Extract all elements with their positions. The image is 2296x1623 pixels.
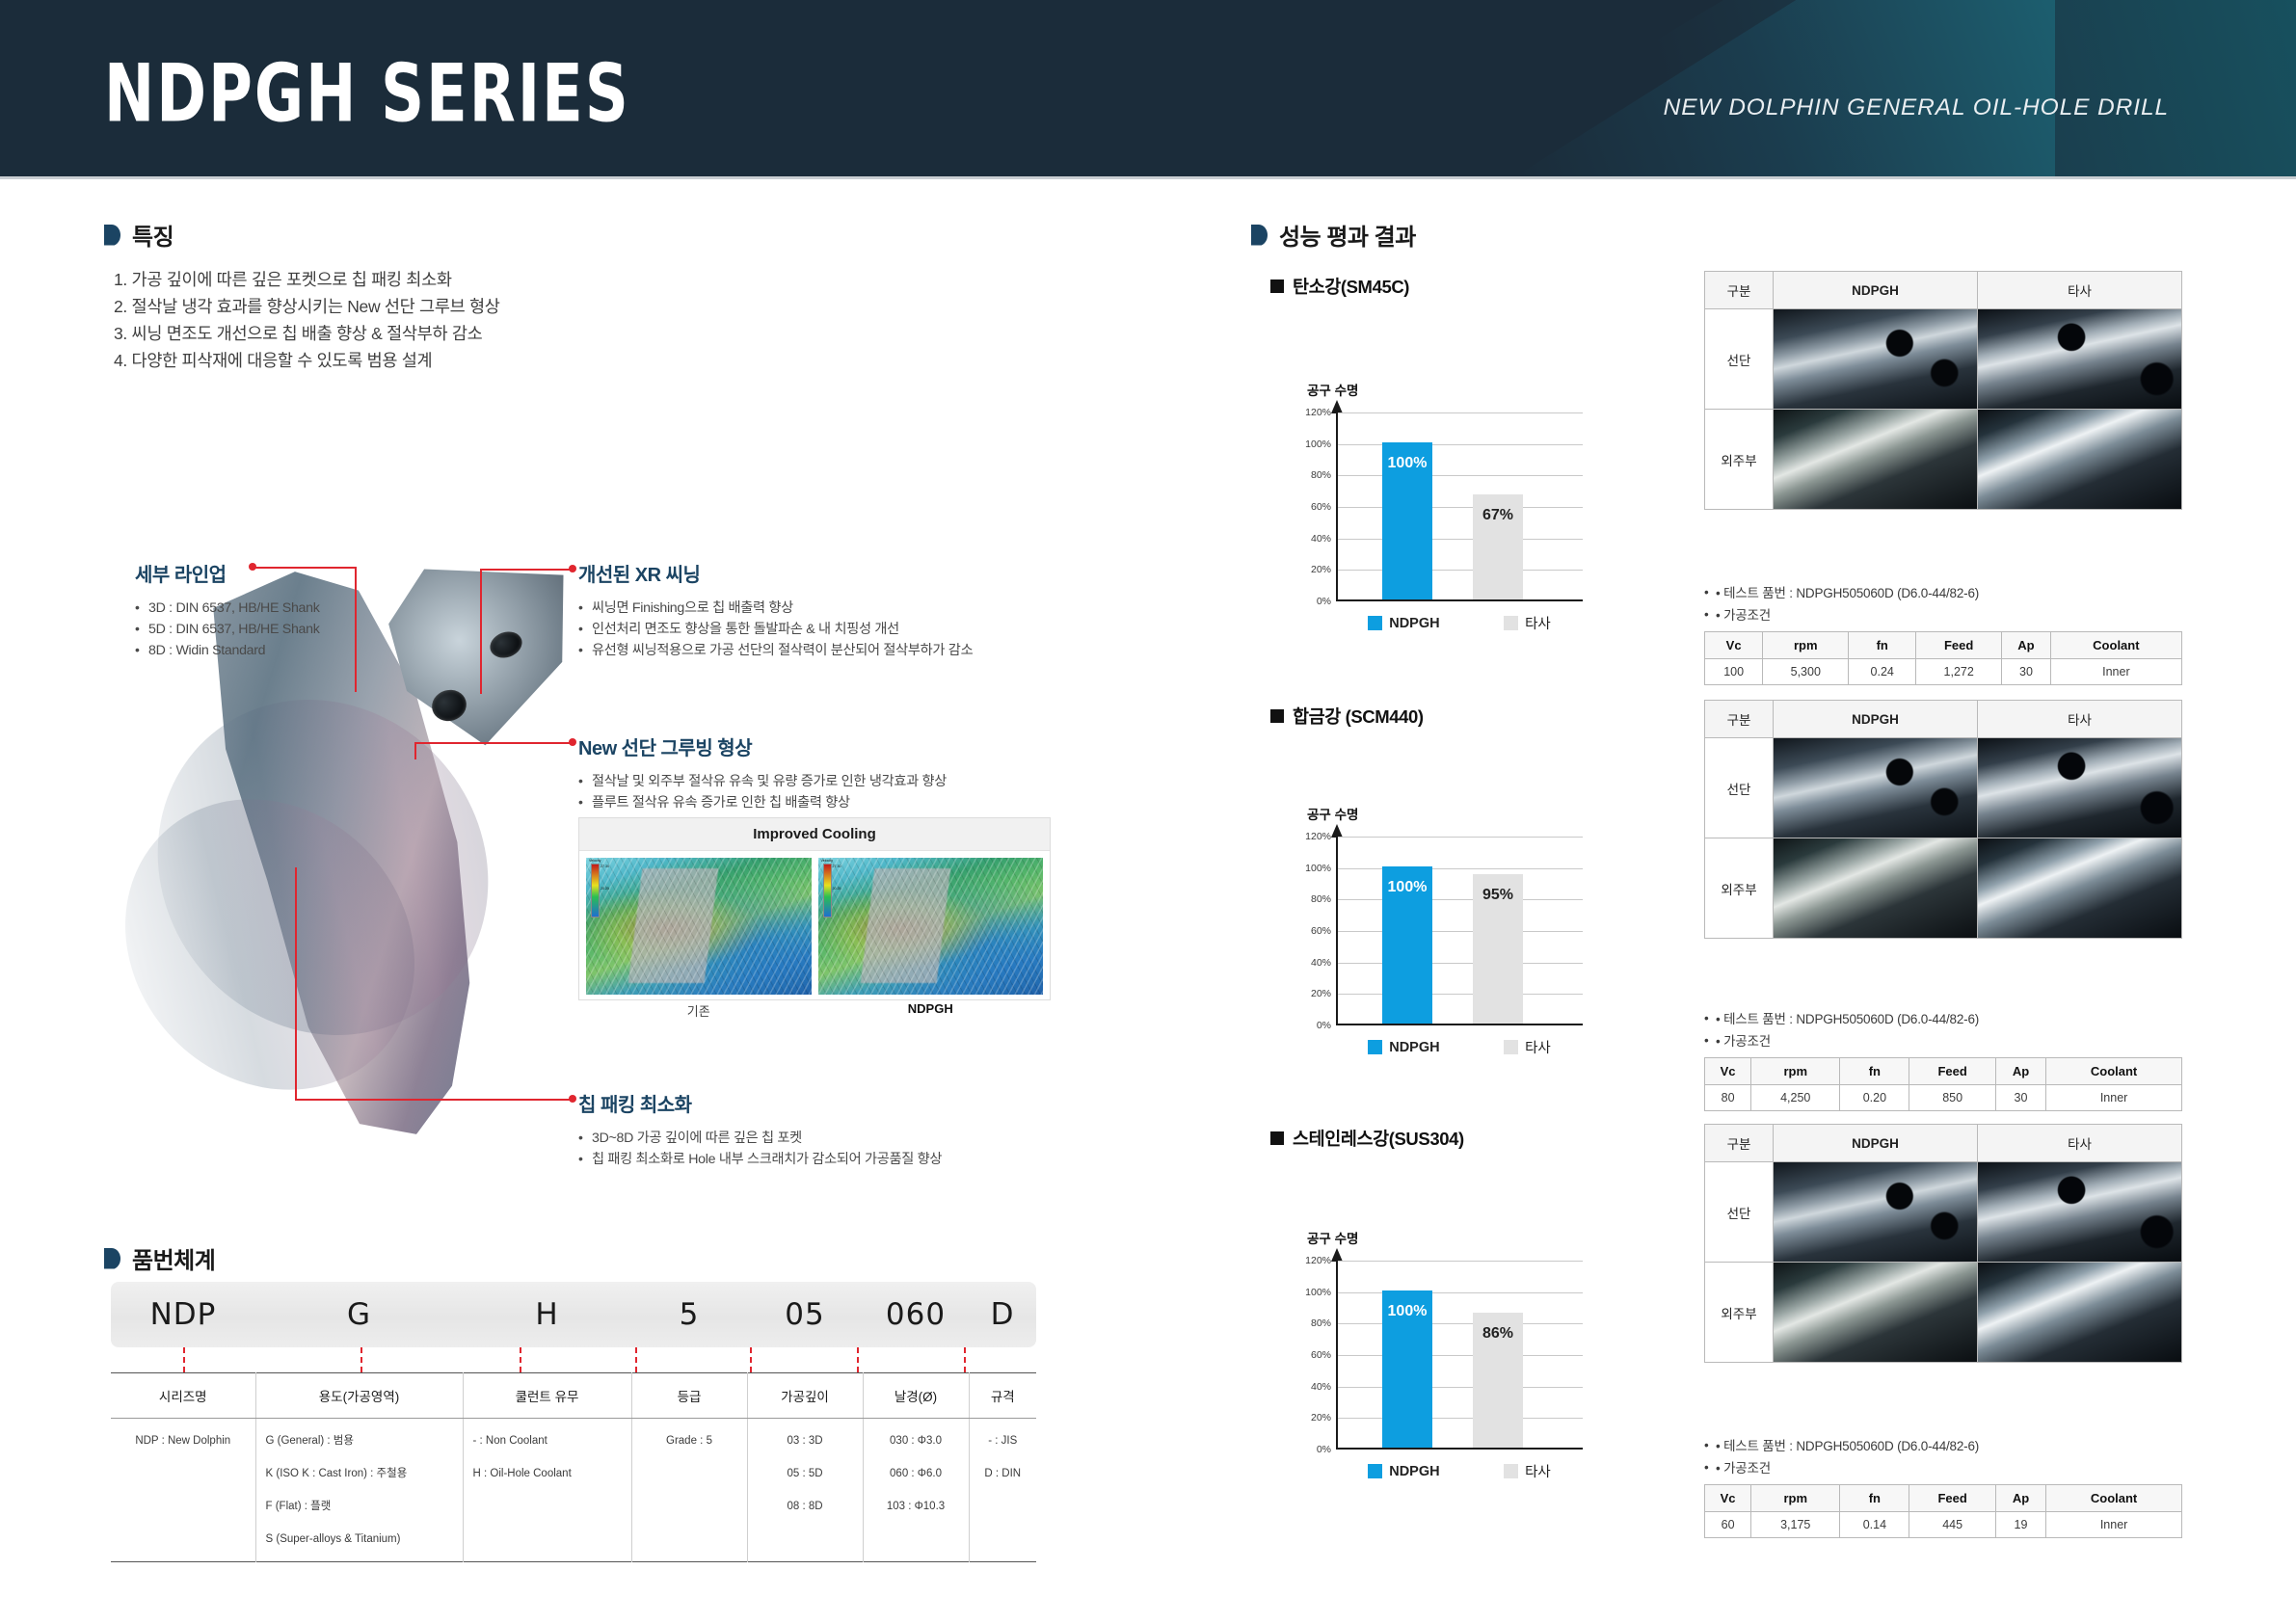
cell-text: 103 : Φ10.3: [864, 1490, 969, 1523]
cell-text: K (ISO K : Cast Iron) : 주철용: [266, 1457, 453, 1490]
cooling-captions: 기존 NDPGH: [579, 1001, 1050, 1024]
cell-value: 5,300: [1763, 659, 1849, 685]
y-tick-label: 100%: [1305, 439, 1331, 450]
cell-text: H : Oil-Hole Coolant: [473, 1457, 622, 1490]
leader-line: [253, 567, 357, 569]
chart-legend: NDPGH 타사: [1336, 1037, 1583, 1057]
photo-cell: [1774, 838, 1978, 939]
cooling-panel-title: Improved Cooling: [579, 818, 1050, 851]
leader-dot: [569, 738, 576, 746]
cell-usage: G (General) : 범용 K (ISO K : Cast Iron) :…: [255, 1419, 463, 1562]
pn-connector: [750, 1347, 752, 1372]
table-row: 선단: [1705, 1162, 2182, 1263]
callout-title: New 선단 그루빙 형상: [578, 732, 947, 760]
bar-value-label: 100%: [1382, 1303, 1432, 1320]
column-header: Ap: [1995, 1058, 2045, 1085]
bar-other: 86%: [1473, 1313, 1523, 1449]
table-row: 선단: [1705, 309, 2182, 410]
cell-text: NDP : New Dolphin: [111, 1424, 255, 1457]
cell-value: 0.20: [1840, 1085, 1909, 1111]
condition-label: • 가공조건: [1704, 1030, 2182, 1052]
performance-heading: 성능 평과 결과: [1251, 218, 1416, 252]
list-item: 씨닝면 Finishing으로 칩 배출력 향상: [578, 598, 973, 619]
drill-periphery-photo-ndpgh: [1774, 838, 1977, 938]
velocity-scale-bar: [823, 864, 832, 918]
condition-table: Vc rpm fn Feed Ap Coolant 60 3,175 0.14 …: [1704, 1484, 2182, 1538]
cell-value: 30: [1995, 1085, 2045, 1111]
column-header: Vc: [1705, 1485, 1751, 1512]
cell-diameter: 030 : Φ3.0 060 : Φ6.0 103 : Φ10.3: [863, 1419, 969, 1562]
compare-table-scm440: 구분 NDPGH 타사 선단 외주부: [1704, 700, 2182, 939]
table-header-row: 구분 NDPGH 타사: [1705, 272, 2182, 309]
column-header: Ap: [2002, 632, 2051, 659]
list-item: 유선형 씨닝적용으로 가공 선단의 절삭력이 분산되어 절삭부하가 감소: [578, 640, 973, 661]
row-label: 선단: [1705, 738, 1774, 838]
velocity-scale-bar: [591, 864, 600, 918]
legend-item-other: 타사: [1504, 613, 1551, 633]
column-header: Vc: [1705, 632, 1763, 659]
legend-label: 타사: [1525, 613, 1551, 633]
subtitle-label: 합금강 (SCM440): [1293, 704, 1424, 729]
y-tick-label: 20%: [1311, 1412, 1331, 1423]
performance-heading-label: 성능 평과 결과: [1279, 218, 1416, 252]
callout-lineup: 세부 라인업 3D : DIN 6537, HB/HE Shank 5D : D…: [135, 559, 320, 661]
pn-connector: [360, 1347, 362, 1372]
table-header-row: Vc rpm fn Feed Ap Coolant: [1705, 632, 2182, 659]
cell-value: 80: [1705, 1085, 1751, 1111]
chart-sus304: 공구 수명 120% 100% 80% 60% 40% 20% 0% 100% …: [1282, 1253, 1600, 1484]
column-header: 등급: [631, 1373, 747, 1419]
cell-value: 3,175: [1751, 1512, 1840, 1538]
list-item: 4. 다양한 피삭재에 대응할 수 있도록 범용 설계: [114, 347, 500, 374]
y-tick-label: 60%: [1311, 925, 1331, 937]
list-item: 5D : DIN 6537, HB/HE Shank: [135, 619, 320, 640]
legend-swatch-icon: [1504, 1464, 1518, 1478]
callout-title: 칩 패킹 최소화: [578, 1089, 942, 1117]
drill-tip-photo-ndpgh: [1774, 309, 1977, 409]
bar-value-label: 100%: [1382, 879, 1432, 896]
column-header: 쿨런트 유무: [463, 1373, 631, 1419]
pn-code-cell: D: [969, 1297, 1036, 1332]
drill-periphery-photo-other: [1978, 1263, 2181, 1362]
square-bullet-icon: [1270, 279, 1284, 293]
drill-periphery-photo-ndpgh: [1774, 410, 1977, 509]
square-bullet-icon: [1270, 709, 1284, 723]
bar-other: 95%: [1473, 874, 1523, 1024]
column-header: 구분: [1705, 701, 1774, 738]
table-row: NDP : New Dolphin G (General) : 범용 K (IS…: [111, 1419, 1036, 1562]
table-row: 100 5,300 0.24 1,272 30 Inner: [1705, 659, 2182, 685]
page-header: NDPGH SERIES NEW DOLPHIN GENERAL OIL-HOL…: [0, 0, 2296, 176]
y-tick-label: 80%: [1311, 1317, 1331, 1329]
legend-label: NDPGH: [1389, 616, 1439, 631]
callout-title: 세부 라인업: [135, 559, 320, 587]
y-tick-label: 40%: [1311, 1381, 1331, 1393]
leader-line: [355, 567, 357, 692]
cell-value: 0.14: [1840, 1512, 1909, 1538]
y-tick-label: 120%: [1305, 1255, 1331, 1266]
drill-tip-photo-ndpgh: [1774, 738, 1977, 838]
column-header: 시리즈명: [111, 1373, 255, 1419]
column-header: 구분: [1705, 1125, 1774, 1162]
partnumber-code-bar: NDP G H 5 05 060 D: [111, 1282, 1036, 1347]
bar-value-label: 100%: [1382, 455, 1432, 472]
pn-connector: [635, 1347, 637, 1372]
catalog-page: NDPGH SERIES NEW DOLPHIN GENERAL OIL-HOL…: [0, 0, 2296, 1623]
column-header: 용도(가공영역): [255, 1373, 463, 1419]
bar-value-label: 86%: [1473, 1325, 1523, 1343]
table-row: 선단: [1705, 738, 2182, 838]
drill-tip-photo-other: [1978, 1162, 2181, 1262]
column-header: Feed: [1916, 632, 2002, 659]
y-tick-label: 40%: [1311, 533, 1331, 545]
list-item: 플루트 절삭유 유속 증가로 인한 칩 배출력 향상: [578, 792, 947, 813]
pn-code-cell: G: [255, 1297, 463, 1332]
photo-cell: [1978, 410, 2182, 510]
leader-line: [414, 742, 416, 759]
column-header: NDPGH: [1774, 272, 1978, 309]
cell-text: S (Super-alloys & Titanium): [266, 1523, 453, 1556]
legend-label: NDPGH: [1389, 1040, 1439, 1055]
condition-table: Vc rpm fn Feed Ap Coolant 100 5,300 0.24…: [1704, 631, 2182, 685]
chart-plot-area: 120% 100% 80% 60% 40% 20% 0% 100% 95%: [1336, 837, 1583, 1025]
drill-tip-photo-other: [1978, 309, 2181, 409]
features-list: 1. 가공 깊이에 따른 깊은 포켓으로 칩 패킹 최소화 2. 절삭날 냉각 …: [114, 266, 500, 374]
pn-code-cell: 05: [747, 1297, 863, 1332]
column-header: Vc: [1705, 1058, 1751, 1085]
column-header: 가공깊이: [747, 1373, 863, 1419]
drill-tip-photo-ndpgh: [1774, 1162, 1977, 1262]
bar-ndpgh: 100%: [1382, 1290, 1432, 1448]
column-header: fn: [1840, 1485, 1909, 1512]
list-item: 인선처리 면조도 향상을 통한 돌발파손 & 내 치핑성 개선: [578, 619, 973, 640]
cell-value: 4,250: [1751, 1085, 1840, 1111]
legend-swatch-icon: [1368, 616, 1382, 630]
cell-value: 30: [2002, 659, 2051, 685]
page-title: NDPGH SERIES: [104, 48, 630, 141]
block-subtitle-sus304: 스테인레스강(SUS304): [1270, 1126, 1464, 1151]
photo-cell: [1978, 838, 2182, 939]
cell-value: 60: [1705, 1512, 1751, 1538]
column-header: rpm: [1763, 632, 1849, 659]
bar-value-label: 67%: [1473, 507, 1523, 524]
axis-arrow-icon: [1331, 1248, 1343, 1262]
column-header: Coolant: [2046, 1058, 2182, 1085]
test-part-number: • 테스트 품번 : NDPGH505060D (D6.0-44/82-6): [1704, 582, 2182, 604]
chart-y-axis-label: 공구 수명: [1307, 804, 1358, 823]
column-header: Feed: [1909, 1058, 1995, 1085]
chart-plot-area: 120% 100% 80% 60% 40% 20% 0% 100% 86%: [1336, 1261, 1583, 1450]
column-header: fn: [1840, 1058, 1909, 1085]
table-row: 60 3,175 0.14 445 19 Inner: [1705, 1512, 2182, 1538]
cell-value: Inner: [2046, 1512, 2182, 1538]
chart-scm440: 공구 수명 120% 100% 80% 60% 40% 20% 0% 100% …: [1282, 829, 1600, 1060]
condition-block-scm440: • 테스트 품번 : NDPGH505060D (D6.0-44/82-6) •…: [1704, 1008, 2182, 1111]
list-item: 3D : DIN 6537, HB/HE Shank: [135, 598, 320, 619]
legend-swatch-icon: [1504, 1040, 1518, 1054]
chart-plot-area: 120% 100% 80% 60% 40% 20% 0% 100% 67%: [1336, 412, 1583, 601]
column-header: 규격: [969, 1373, 1036, 1419]
subtitle-label: 스테인레스강(SUS304): [1293, 1126, 1464, 1151]
velocity-scale-label: Velocity: [821, 859, 833, 863]
condition-block-sus304: • 테스트 품번 : NDPGH505060D (D6.0-44/82-6) •…: [1704, 1435, 2182, 1538]
list-item: 칩 패킹 최소화로 Hole 내부 스크래치가 감소되어 가공품질 향상: [578, 1149, 942, 1170]
header-divider: [0, 176, 2296, 179]
leader-line: [482, 569, 574, 571]
y-tick-label: 20%: [1311, 988, 1331, 999]
cfd-surface-mask: [861, 868, 951, 983]
cell-value: Inner: [2050, 659, 2181, 685]
callout-list: 절삭날 및 외주부 절삭유 유속 및 유량 증가로 인한 냉각효과 향상 플루트…: [578, 771, 947, 813]
cell-text: 030 : Φ3.0: [864, 1424, 969, 1457]
flag-icon: [1251, 225, 1268, 246]
y-tick-label: 20%: [1311, 564, 1331, 575]
cfd-image-ndpgh: Velocity 27.30 20.25: [818, 858, 1044, 995]
photo-cell: [1774, 1162, 1978, 1263]
y-tick-label: 40%: [1311, 957, 1331, 969]
velocity-scale-label: Velocity: [589, 859, 601, 863]
test-part-number: • 테스트 품번 : NDPGH505060D (D6.0-44/82-6): [1704, 1008, 2182, 1030]
column-header: NDPGH: [1774, 701, 1978, 738]
cooling-images: Velocity 27.30 20.25 Velocity 27.30 20.2…: [579, 851, 1050, 1001]
pn-code-cell: H: [463, 1297, 631, 1332]
row-label: 외주부: [1705, 1263, 1774, 1363]
table-row: 외주부: [1705, 1263, 2182, 1363]
velocity-scale-max: 27.30: [833, 865, 841, 868]
cell-value: 19: [1995, 1512, 2045, 1538]
subtitle-label: 탄소강(SM45C): [1293, 274, 1409, 299]
table-header-row: Vc rpm fn Feed Ap Coolant: [1705, 1058, 2182, 1085]
features-heading-label: 특징: [132, 218, 174, 252]
axis-arrow-icon: [1331, 400, 1343, 413]
chart-legend: NDPGH 타사: [1336, 613, 1583, 633]
compare-table-sm45c: 구분 NDPGH 타사 선단 외주부: [1704, 271, 2182, 510]
axis-arrow-icon: [1331, 824, 1343, 838]
y-tick-label: 80%: [1311, 469, 1331, 481]
legend-swatch-icon: [1368, 1464, 1382, 1478]
y-tick-label: 120%: [1305, 831, 1331, 842]
drill-periphery-photo-other: [1978, 838, 2181, 938]
legend-item-ndpgh: NDPGH: [1368, 1464, 1439, 1479]
callout-list: 3D~8D 가공 깊이에 따른 깊은 칩 포켓 칩 패킹 최소화로 Hole 내…: [578, 1128, 942, 1170]
list-item: 3. 씨닝 면조도 개선으로 칩 배출 향상 & 절삭부하 감소: [114, 320, 500, 347]
condition-label: • 가공조건: [1704, 1457, 2182, 1479]
table-row: 외주부: [1705, 410, 2182, 510]
pn-connector: [964, 1347, 966, 1372]
column-header: 타사: [1978, 272, 2182, 309]
cooling-caption-left: 기존: [586, 1001, 812, 1020]
photo-cell: [1774, 309, 1978, 410]
callout-xr-thinning: 개선된 XR 씨닝 씨닝면 Finishing으로 칩 배출력 향상 인선처리 …: [578, 559, 973, 661]
table-row: 외주부: [1705, 838, 2182, 939]
row-label: 선단: [1705, 1162, 1774, 1263]
condition-table: Vc rpm fn Feed Ap Coolant 80 4,250 0.20 …: [1704, 1057, 2182, 1111]
cfd-image-conventional: Velocity 27.30 20.25: [586, 858, 812, 995]
cell-depth: 03 : 3D 05 : 5D 08 : 8D: [747, 1419, 863, 1562]
legend-item-ndpgh: NDPGH: [1368, 1040, 1439, 1055]
cell-text: F (Flat) : 플랫: [266, 1490, 453, 1523]
y-tick-label: 60%: [1311, 501, 1331, 513]
y-tick-label: 0%: [1317, 1020, 1331, 1031]
column-header: 구분: [1705, 272, 1774, 309]
drill-tip-photo-other: [1978, 738, 2181, 838]
legend-item-other: 타사: [1504, 1461, 1551, 1481]
cell-text: 08 : 8D: [748, 1490, 863, 1523]
column-header: rpm: [1751, 1485, 1840, 1512]
drill-periphery-photo-other: [1978, 410, 2181, 509]
callout-chip-packing: 칩 패킹 최소화 3D~8D 가공 깊이에 따른 깊은 칩 포켓 칩 패킹 최소…: [578, 1089, 942, 1170]
cell-text: 03 : 3D: [748, 1424, 863, 1457]
leader-dot: [569, 565, 576, 572]
cell-text: 060 : Φ6.0: [864, 1457, 969, 1490]
column-header: fn: [1849, 632, 1916, 659]
column-header: 날경(Ø): [863, 1373, 969, 1419]
condition-label: • 가공조건: [1704, 604, 2182, 626]
bar-value-label: 95%: [1473, 887, 1523, 904]
callout-list: 씨닝면 Finishing으로 칩 배출력 향상 인선처리 면조도 향상을 통한…: [578, 598, 973, 661]
improved-cooling-panel: Improved Cooling Velocity 27.30 20.25 Ve…: [578, 817, 1051, 1000]
table-header-row: 시리즈명 용도(가공영역) 쿨런트 유무 등급 가공깊이 날경(Ø) 규격: [111, 1373, 1036, 1419]
pn-code-cell: NDP: [111, 1297, 255, 1332]
cell-text: G (General) : 범용: [266, 1424, 453, 1457]
cell-text: Grade : 5: [632, 1424, 747, 1457]
column-header: Coolant: [2050, 632, 2181, 659]
legend-item-ndpgh: NDPGH: [1368, 616, 1439, 631]
cell-text: - : JIS: [970, 1424, 1037, 1457]
photo-cell: [1774, 410, 1978, 510]
cell-value: 100: [1705, 659, 1763, 685]
row-label: 선단: [1705, 309, 1774, 410]
y-tick-label: 0%: [1317, 596, 1331, 607]
cell-value: 0.24: [1849, 659, 1916, 685]
y-tick-label: 100%: [1305, 863, 1331, 874]
flag-icon: [104, 1248, 120, 1269]
compare-table-sus304: 구분 NDPGH 타사 선단 외주부: [1704, 1124, 2182, 1363]
column-header: rpm: [1751, 1058, 1840, 1085]
list-item: 2. 절삭날 냉각 효과를 향상시키는 New 선단 그루브 형상: [114, 293, 500, 320]
drill-periphery-photo-ndpgh: [1774, 1263, 1977, 1362]
cell-grade: Grade : 5: [631, 1419, 747, 1562]
cell-value: 445: [1909, 1512, 1995, 1538]
pn-connector: [520, 1347, 521, 1372]
row-label: 외주부: [1705, 410, 1774, 510]
legend-label: 타사: [1525, 1461, 1551, 1481]
cell-standard: - : JIS D : DIN: [969, 1419, 1036, 1562]
chart-y-axis-label: 공구 수명: [1307, 380, 1358, 399]
cooling-caption-right: NDPGH: [818, 1001, 1044, 1020]
photo-cell: [1774, 1263, 1978, 1363]
cell-text: D : DIN: [970, 1457, 1037, 1490]
condition-block-sm45c: • 테스트 품번 : NDPGH505060D (D6.0-44/82-6) •…: [1704, 582, 2182, 685]
photo-cell: [1978, 738, 2182, 838]
pn-connector: [857, 1347, 859, 1372]
legend-label: 타사: [1525, 1037, 1551, 1057]
table-row: 80 4,250 0.20 850 30 Inner: [1705, 1085, 2182, 1111]
column-header: Ap: [1995, 1485, 2045, 1512]
square-bullet-icon: [1270, 1131, 1284, 1145]
column-header: Feed: [1909, 1485, 1995, 1512]
legend-label: NDPGH: [1389, 1464, 1439, 1479]
bar-ndpgh: 100%: [1382, 866, 1432, 1024]
block-subtitle-scm440: 합금강 (SCM440): [1270, 704, 1424, 729]
test-part-number: • 테스트 품번 : NDPGH505060D (D6.0-44/82-6): [1704, 1435, 2182, 1457]
y-tick-label: 120%: [1305, 407, 1331, 418]
y-tick-label: 60%: [1311, 1349, 1331, 1361]
cell-text: - : Non Coolant: [473, 1424, 622, 1457]
chart-legend: NDPGH 타사: [1336, 1461, 1583, 1481]
cell-value: Inner: [2046, 1085, 2182, 1111]
leader-line: [295, 1099, 574, 1101]
bar-other: 67%: [1473, 494, 1523, 599]
callout-new-groove: New 선단 그루빙 형상 절삭날 및 외주부 절삭유 유속 및 유량 증가로 …: [578, 732, 947, 813]
cell-value: 850: [1909, 1085, 1995, 1111]
photo-cell: [1978, 309, 2182, 410]
leader-line: [480, 569, 482, 694]
leader-dot: [249, 563, 256, 571]
table-header-row: Vc rpm fn Feed Ap Coolant: [1705, 1485, 2182, 1512]
features-heading: 특징: [104, 218, 174, 252]
pn-connector: [183, 1347, 185, 1372]
velocity-scale-mid: 20.25: [833, 887, 841, 891]
photo-cell: [1978, 1263, 2182, 1363]
list-item: 8D : Widin Standard: [135, 640, 320, 661]
leader-line: [295, 867, 297, 1099]
y-tick-label: 100%: [1305, 1287, 1331, 1298]
page-subtitle: NEW DOLPHIN GENERAL OIL-HOLE DRILL: [1664, 94, 2169, 121]
row-label: 외주부: [1705, 838, 1774, 939]
callout-title: 개선된 XR 씨닝: [578, 559, 973, 587]
table-header-row: 구분 NDPGH 타사: [1705, 701, 2182, 738]
cell-series: NDP : New Dolphin: [111, 1419, 255, 1562]
list-item: 절삭날 및 외주부 절삭유 유속 및 유량 증가로 인한 냉각효과 향상: [578, 771, 947, 792]
legend-item-other: 타사: [1504, 1037, 1551, 1057]
column-header: 타사: [1978, 701, 2182, 738]
list-item: 1. 가공 깊이에 따른 깊은 포켓으로 칩 패킹 최소화: [114, 266, 500, 293]
partnumber-heading: 품번체계: [104, 1241, 215, 1275]
y-tick-label: 0%: [1317, 1444, 1331, 1455]
photo-cell: [1774, 738, 1978, 838]
cell-text: 05 : 5D: [748, 1457, 863, 1490]
pn-code-cell: 060: [863, 1297, 969, 1332]
partnumber-table: 시리즈명 용도(가공영역) 쿨런트 유무 등급 가공깊이 날경(Ø) 규격 ND…: [111, 1372, 1036, 1562]
legend-swatch-icon: [1368, 1040, 1382, 1054]
chart-y-axis-label: 공구 수명: [1307, 1228, 1358, 1247]
flag-icon: [104, 225, 120, 246]
leader-line: [414, 742, 574, 744]
legend-swatch-icon: [1504, 616, 1518, 630]
partnumber-heading-label: 품번체계: [132, 1241, 215, 1275]
leader-dot: [569, 1095, 576, 1103]
bar-ndpgh: 100%: [1382, 442, 1432, 599]
column-header: NDPGH: [1774, 1125, 1978, 1162]
pn-code-cell: 5: [631, 1297, 747, 1332]
cell-value: 1,272: [1916, 659, 2002, 685]
list-item: 3D~8D 가공 깊이에 따른 깊은 칩 포켓: [578, 1128, 942, 1149]
column-header: Coolant: [2046, 1485, 2182, 1512]
column-header: 타사: [1978, 1125, 2182, 1162]
y-tick-label: 80%: [1311, 893, 1331, 905]
chart-sm45c: 공구 수명 120% 100% 80% 60% 40% 20% 0% 100% …: [1282, 405, 1600, 636]
block-subtitle-sm45c: 탄소강(SM45C): [1270, 274, 1409, 299]
cfd-surface-mask: [628, 868, 719, 983]
velocity-scale-max: 27.30: [601, 865, 609, 868]
velocity-scale-mid: 20.25: [601, 887, 609, 891]
callout-list: 3D : DIN 6537, HB/HE Shank 5D : DIN 6537…: [135, 598, 320, 661]
cell-coolant: - : Non Coolant H : Oil-Hole Coolant: [463, 1419, 631, 1562]
table-header-row: 구분 NDPGH 타사: [1705, 1125, 2182, 1162]
photo-cell: [1978, 1162, 2182, 1263]
